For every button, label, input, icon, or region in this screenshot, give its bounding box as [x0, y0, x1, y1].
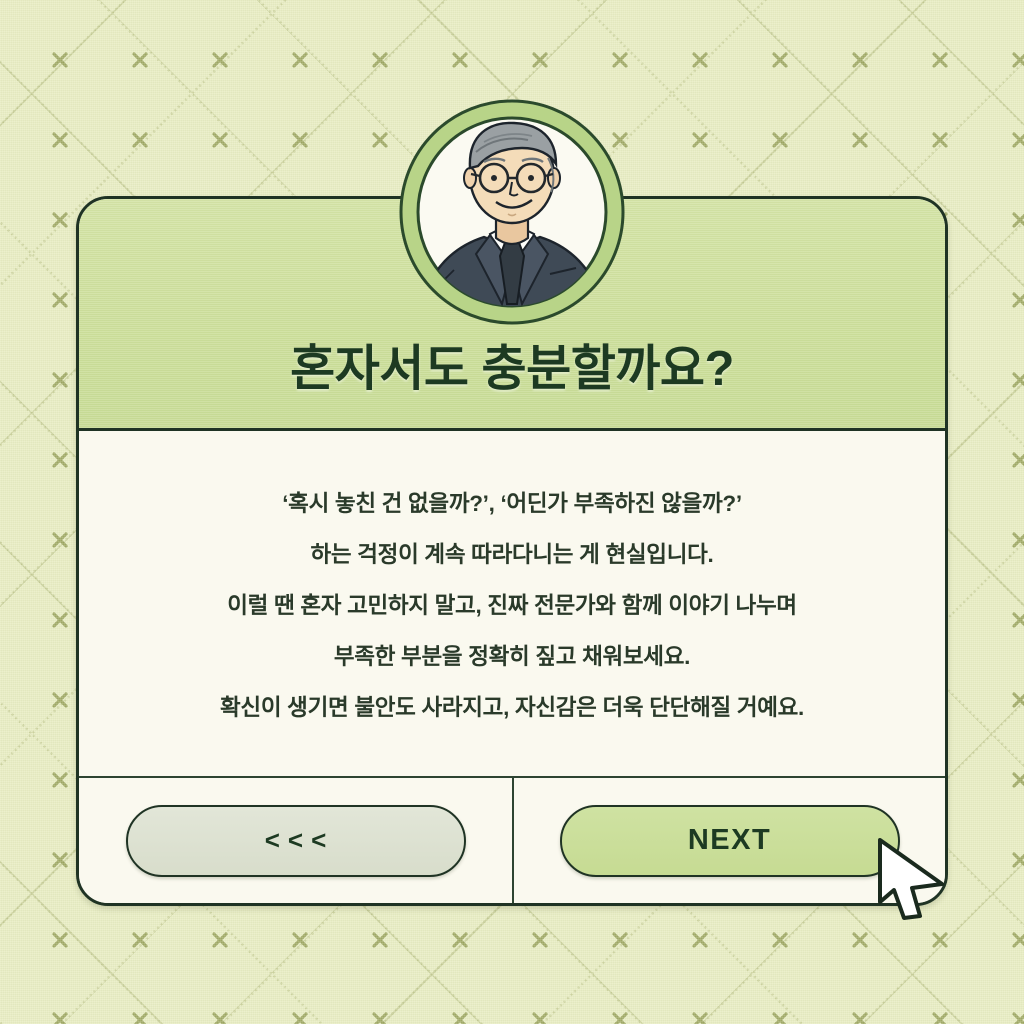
- body-text-line: 확신이 생기면 불안도 사라지고, 자신감은 더욱 단단해질 거예요.: [220, 690, 804, 722]
- back-button[interactable]: <<<: [126, 805, 466, 877]
- next-button[interactable]: NEXT: [560, 805, 900, 877]
- page-title: 혼자서도 충분할까요?: [290, 329, 734, 400]
- footer-cell-right: NEXT: [512, 778, 945, 903]
- avatar: [398, 98, 626, 326]
- body-text-line: 하는 걱정이 계속 따라다니는 게 현실입니다.: [311, 537, 714, 569]
- card-footer: <<< NEXT: [79, 778, 945, 903]
- body-text-line: 이럴 땐 혼자 고민하지 말고, 진짜 전문가와 함께 이야기 나누며: [227, 588, 797, 620]
- card-body: ‘혹시 놓친 건 없을까?’, ‘어딘가 부족하진 않을까?’ 하는 걱정이 계…: [79, 431, 945, 778]
- body-text-line: 부족한 부분을 정확히 짚고 채워보세요.: [334, 639, 690, 671]
- body-text-line: ‘혹시 놓친 건 없을까?’, ‘어딘가 부족하진 않을까?’: [282, 486, 742, 518]
- back-button-label: <<<: [257, 825, 335, 856]
- footer-cell-left: <<<: [79, 778, 512, 903]
- next-button-label: NEXT: [688, 824, 771, 857]
